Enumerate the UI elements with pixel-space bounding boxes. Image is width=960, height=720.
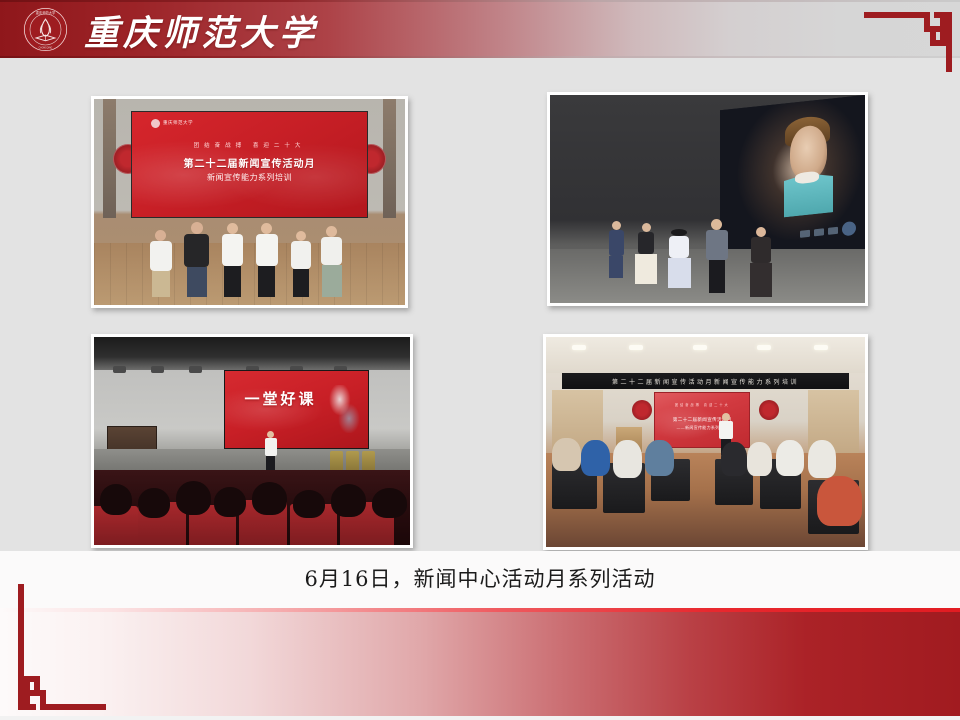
photo3-screen-artwork	[325, 385, 362, 433]
slide-caption: 6月16日，新闻中心活动月系列活动	[0, 563, 960, 593]
photo4-ceiling	[546, 337, 865, 373]
photo1-person	[287, 231, 315, 297]
header-bottom-rule	[0, 56, 960, 58]
photo2-watermark	[800, 229, 810, 237]
photo3-audience	[94, 470, 410, 545]
photo-lecture-hall[interactable]: 一堂好课	[91, 334, 413, 548]
photo1-person	[218, 223, 246, 297]
slide-canvas: 重庆师范大学 CHONGQING 重庆师范大学	[0, 0, 960, 720]
photo4-attendee	[721, 442, 747, 476]
photo2-watermark-round	[842, 221, 856, 236]
photo4-attendee	[817, 476, 862, 526]
photo1-screen-logo-text: 重庆师范大学	[163, 120, 193, 126]
photo3-chair-row	[330, 451, 375, 471]
photo1-screen-slogan: 团结奋战搏 喜迎二十大	[132, 141, 366, 149]
photo4-attendee	[613, 440, 642, 478]
photo1-person	[253, 223, 281, 297]
photo4-wall-emblem-right	[759, 400, 779, 420]
photo4-attendee	[581, 440, 610, 476]
photo3-audience-head	[100, 484, 132, 515]
photo2-person	[663, 229, 695, 288]
photo4-ceiling-light	[814, 345, 828, 350]
svg-text:重庆师范大学: 重庆师范大学	[36, 10, 56, 15]
photo1-person	[147, 230, 175, 297]
header-top-rule	[0, 0, 960, 2]
svg-text:CHONGQING: CHONGQING	[39, 46, 53, 49]
photo2-projection-screen	[720, 95, 865, 268]
bottom-decorative-band	[0, 608, 960, 720]
photo1-person	[318, 226, 346, 297]
photo3-audience-head	[214, 487, 246, 517]
photo2-person-speaker	[701, 219, 733, 293]
photo1-screen-logo-mark	[151, 119, 160, 128]
university-seal-icon: 重庆师范大学 CHONGQING	[22, 6, 69, 53]
photo4-wall-emblem-left	[632, 400, 652, 420]
photo4-attendee	[552, 438, 581, 472]
photo3-screen-title: 一堂好课	[230, 388, 330, 409]
photo3-led-screen: 一堂好课	[224, 370, 369, 449]
bottom-base-rule	[0, 716, 960, 720]
photo3-audience-head	[176, 481, 211, 515]
photo1-wood-floor	[94, 243, 405, 305]
photo4-event-banner: 第二十二届新闻宣传活动月新闻宣传能力系列培训	[562, 373, 849, 390]
photo2-projection-watermarks	[800, 221, 856, 241]
photo3-audience-head	[331, 484, 366, 517]
photo3-chair	[362, 451, 375, 471]
photo4-attendee	[776, 440, 805, 476]
photo3-stage-light	[189, 366, 202, 373]
photo2-person	[632, 223, 660, 284]
photo1-screen-logo: 重庆师范大学	[151, 119, 193, 128]
photo4-screen-slogan: 团结奋战搏 喜迎二十大	[657, 402, 747, 407]
photo3-audience-head	[372, 488, 407, 518]
photo3-audience-head	[138, 488, 170, 518]
photo-group-led-wall[interactable]: 重庆师范大学 团结奋战搏 喜迎二十大 第二十二届新闻宣传活动月 新闻宣传能力系列…	[91, 96, 408, 308]
photo4-ceiling-light	[629, 345, 643, 350]
photo4-banner-text: 第二十二届新闻宣传活动月新闻宣传能力系列培训	[612, 377, 799, 386]
photo4-ceiling-light	[572, 345, 586, 350]
photo2-person	[745, 227, 777, 297]
photo2-person	[604, 221, 629, 278]
photo2-watermark	[828, 226, 838, 234]
photo3-audience-head	[293, 490, 325, 518]
photo4-attendee	[808, 440, 837, 478]
photo4-attendee	[747, 442, 773, 476]
photo3-speaker	[261, 431, 280, 470]
photo3-audience-head	[252, 482, 287, 515]
photo3-stage-light	[113, 366, 126, 373]
photo-stage-projection[interactable]	[547, 92, 868, 306]
photo3-chair	[330, 451, 343, 471]
photo1-screen-title: 第二十二届新闻宣传活动月	[132, 155, 366, 170]
photo3-chair	[346, 451, 359, 471]
photo1-led-screen: 重庆师范大学 团结奋战搏 喜迎二十大 第二十二届新闻宣传活动月 新闻宣传能力系列…	[131, 111, 367, 218]
photo4-attendee	[645, 440, 674, 476]
photo4-ceiling-light	[693, 345, 707, 350]
photo3-stage-light	[151, 366, 164, 373]
bottom-band-highlight-rule	[0, 608, 960, 612]
photo2-watermark	[814, 228, 824, 236]
photo1-screen-subtitle: 新闻宣传能力系列培训	[132, 172, 366, 183]
university-name-text: 重庆师范大学	[84, 4, 318, 56]
chinese-corner-ornament-icon	[10, 582, 106, 712]
photo4-ceiling-light	[757, 345, 771, 350]
photo-training-room[interactable]: 第二十二届新闻宣传活动月新闻宣传能力系列培训 团结奋战搏 喜迎二十大 第二十二届…	[543, 334, 868, 550]
photo1-person	[181, 222, 212, 297]
header-banner: 重庆师范大学 CHONGQING 重庆师范大学	[0, 0, 960, 58]
chinese-corner-ornament-icon	[864, 10, 960, 72]
